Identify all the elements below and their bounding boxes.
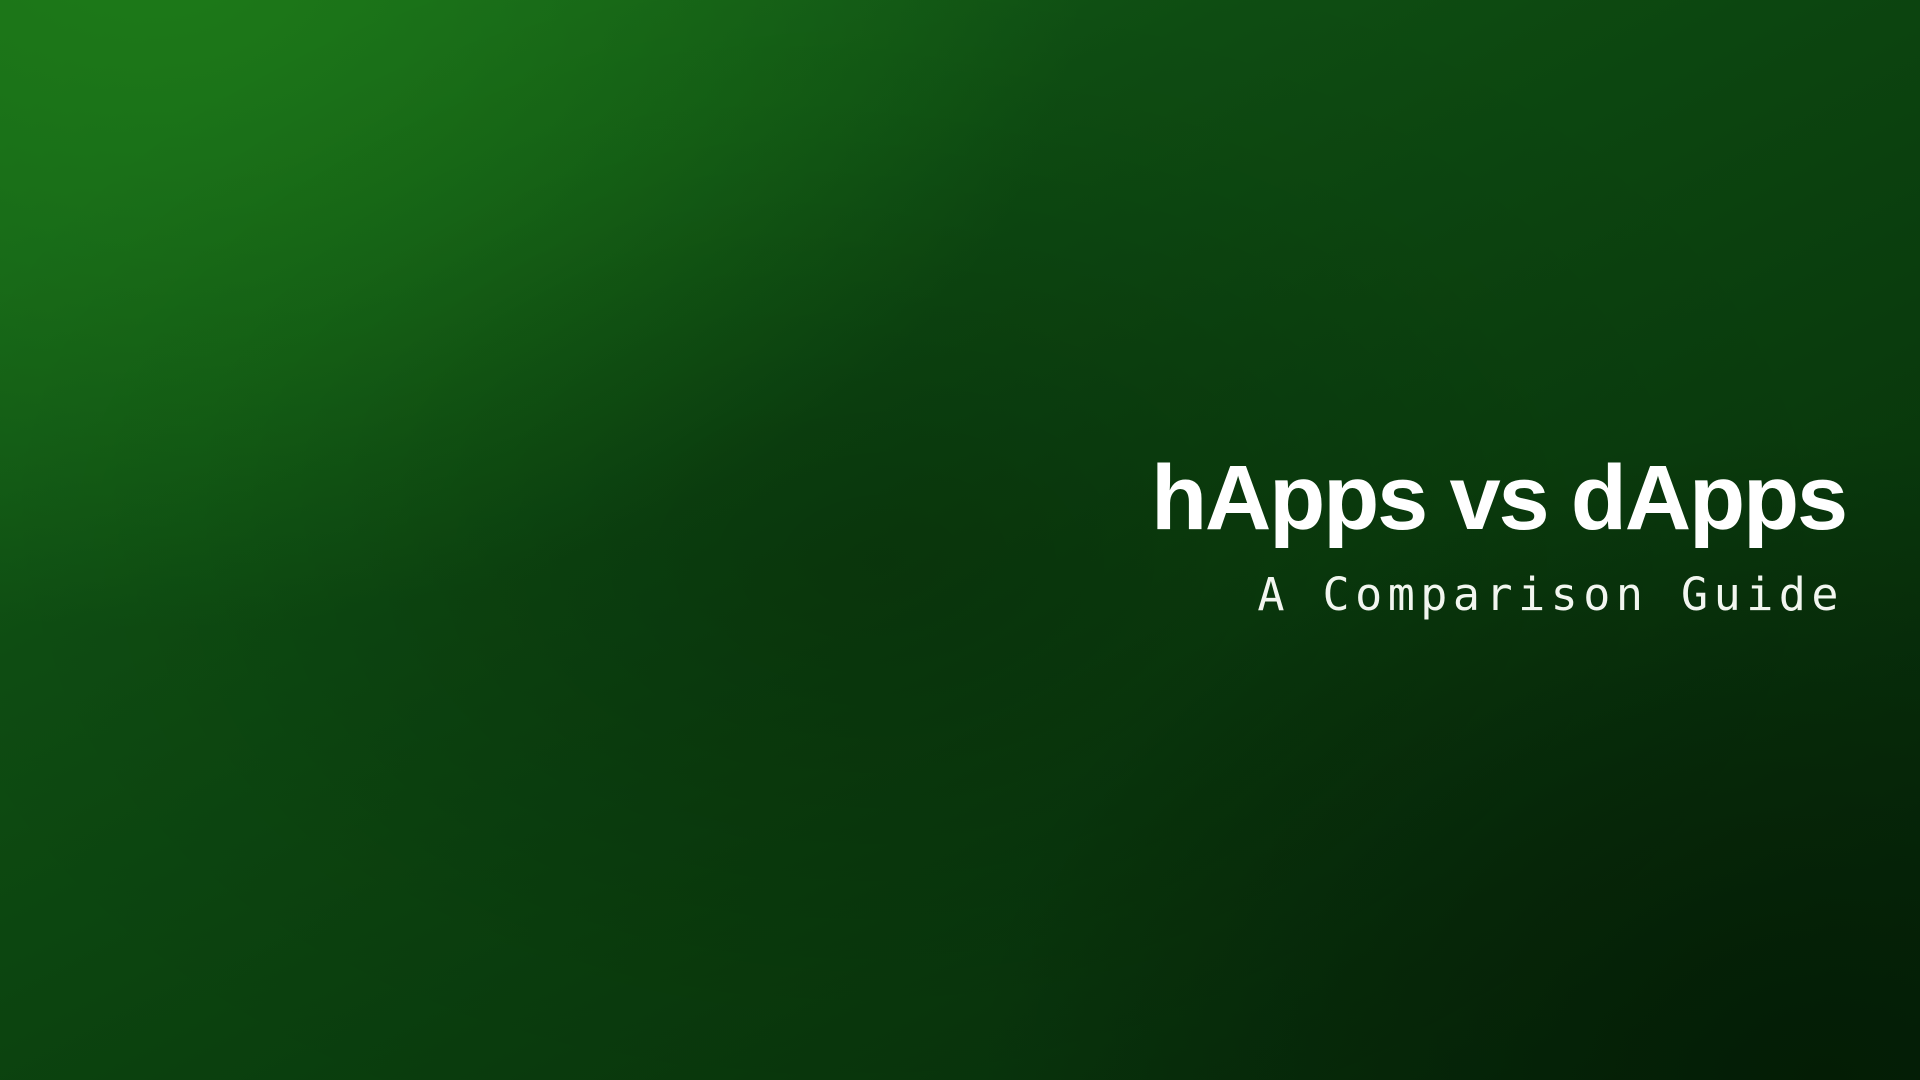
hero-text-block: hApps vs dApps A Comparison Guide [726, 452, 1846, 617]
hero-banner: hApps vs dApps A Comparison Guide [0, 0, 1920, 1080]
page-subtitle: A Comparison Guide [726, 572, 1846, 617]
page-title: hApps vs dApps [726, 452, 1846, 544]
